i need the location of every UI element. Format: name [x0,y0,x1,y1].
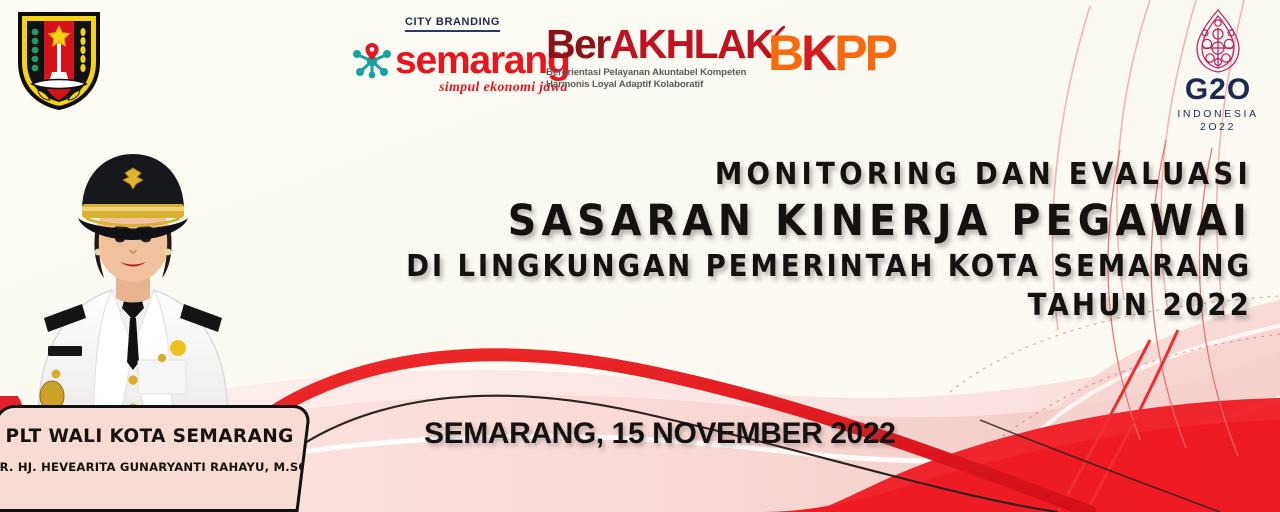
official-portrait-photo [8,108,258,420]
bkpp-letter-b: B [768,25,801,81]
semarang-wordmark-text: semarang simpul ekonomi jawa [395,41,570,80]
event-place-date: SEMARANG, 15 NOVEMBER 2022 [424,417,895,451]
headline-line-4: TAHUN 2022 [323,291,1252,322]
berakhlak-subtitle-line2: Harmonis Loyal Adaptif Kolaboratif [546,79,776,91]
headline-line-2: SASARAN KINERJA PEGAWAI [323,200,1252,244]
g20-batik-ornament-icon [1183,8,1253,74]
official-name-label: IR. HJ. HEVEARITA GUNARYANTI RAHAYU, M.S… [0,460,304,474]
headline-block: MONITORING DAN EVALUASI SASARAN KINERJA … [242,160,1252,322]
headline-line-3: DI LINGKUNGAN PEMERINTAH KOTA SEMARANG [323,252,1252,283]
bkpp-logo: BKPP [768,28,895,78]
berakhlak-subtitle: Berorientasi Pelayanan Akuntabel Kompete… [546,67,776,92]
bkpp-letter-k: K [801,25,834,81]
g20-logo: G2O INDONESIA 2O22 [1168,8,1268,133]
event-banner: CITY BRANDING semarang simpul ekonomi ja… [0,0,1280,512]
semarang-branding-logo: semarang simpul ekonomi jawa [352,34,570,86]
semarang-node-pin-icon [352,41,392,79]
g20-wordmark: G2O [1168,75,1268,105]
berakhlak-logo: BerAKHLAK Berorientasi Pelayanan Akuntab… [546,26,776,91]
bkpp-letters-pp: PP [834,25,895,81]
headline-line-1: MONITORING DAN EVALUASI [323,160,1252,191]
berakhlak-suffix: AKHLAK [610,21,774,67]
g20-year-label: 2O22 [1168,121,1268,133]
semarang-city-emblem-icon [14,8,104,112]
berakhlak-prefix: Ber [546,21,610,67]
berakhlak-wordmark: BerAKHLAK [546,26,776,64]
city-branding-label: CITY BRANDING [405,16,500,32]
semarang-wordmark-label: semarang [395,39,570,82]
berakhlak-subtitle-line1: Berorientasi Pelayanan Akuntabel Kompete… [546,67,776,79]
official-role-label: PLT WALI KOTA SEMARANG [0,426,304,447]
official-caption-panel: PLT WALI KOTA SEMARANG IR. HJ. HEVEARITA… [0,405,312,512]
g20-country-label: INDONESIA [1168,108,1268,120]
